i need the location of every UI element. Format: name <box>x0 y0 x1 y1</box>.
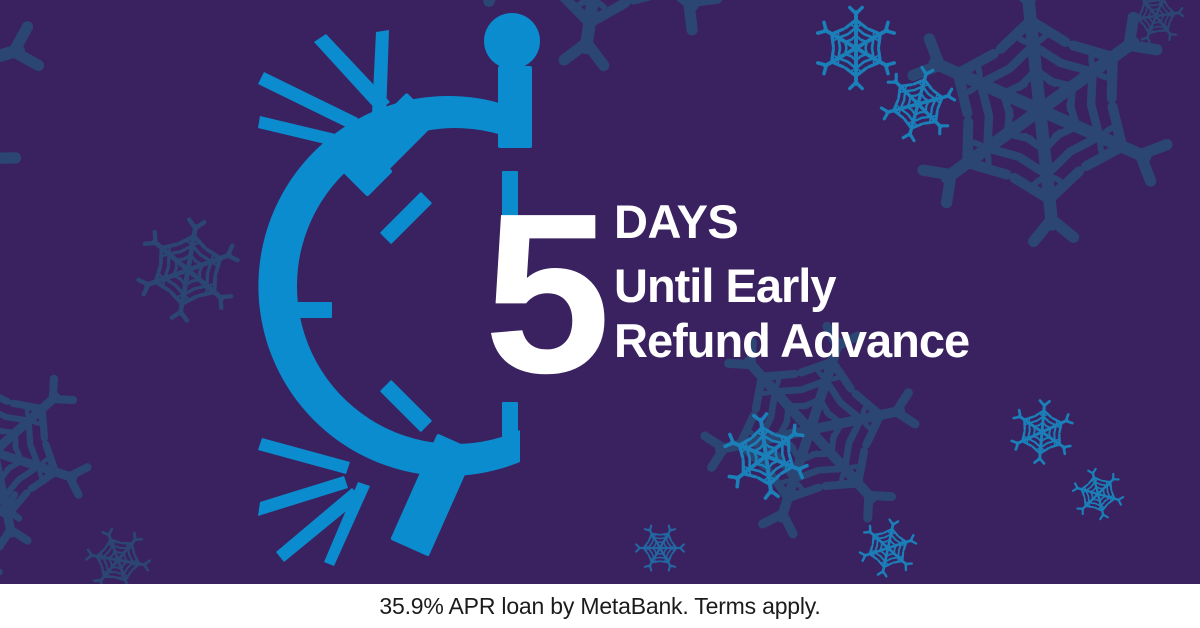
snowflake-mid-left-small <box>131 212 246 328</box>
headline-text-group: DAYS Until Early Refund Advance <box>614 196 1044 368</box>
snowflake-top-mid-small <box>816 7 896 88</box>
snowflake-bottom-far-left <box>0 420 39 584</box>
headline-line-1: Until Early <box>614 258 1044 313</box>
days-count: 5 <box>484 180 605 408</box>
snowflake-bottom-mid-small <box>719 409 812 503</box>
disclaimer-footer: 35.9% APR loan by MetaBank. Terms apply. <box>0 584 1200 628</box>
snowflake-bottom-tiny <box>855 515 921 582</box>
headline-line-2: Refund Advance <box>614 313 1044 368</box>
countdown-banner: 5 DAYS Until Early Refund Advance 35.9% … <box>0 0 1200 628</box>
days-unit-label: DAYS <box>614 196 1044 248</box>
snowflake-left-large <box>0 0 64 239</box>
snowflake-mid-bottom-faint <box>628 515 693 580</box>
headline-block: 5 DAYS Until Early Refund Advance <box>484 196 1044 386</box>
disclaimer-text: 35.9% APR loan by MetaBank. Terms apply. <box>379 593 820 620</box>
snowflake-bottom-left-medium <box>0 341 104 563</box>
hero-area: 5 DAYS Until Early Refund Advance <box>0 0 1200 584</box>
snowflake-right-edge-small <box>1008 398 1075 466</box>
snowflake-top-right-small <box>874 60 963 149</box>
snowflake-bottom-left-tiny <box>78 520 157 584</box>
snowflake-top-edge-tiny <box>1121 0 1191 51</box>
snowflake-right-edge-tiny <box>1068 464 1128 524</box>
